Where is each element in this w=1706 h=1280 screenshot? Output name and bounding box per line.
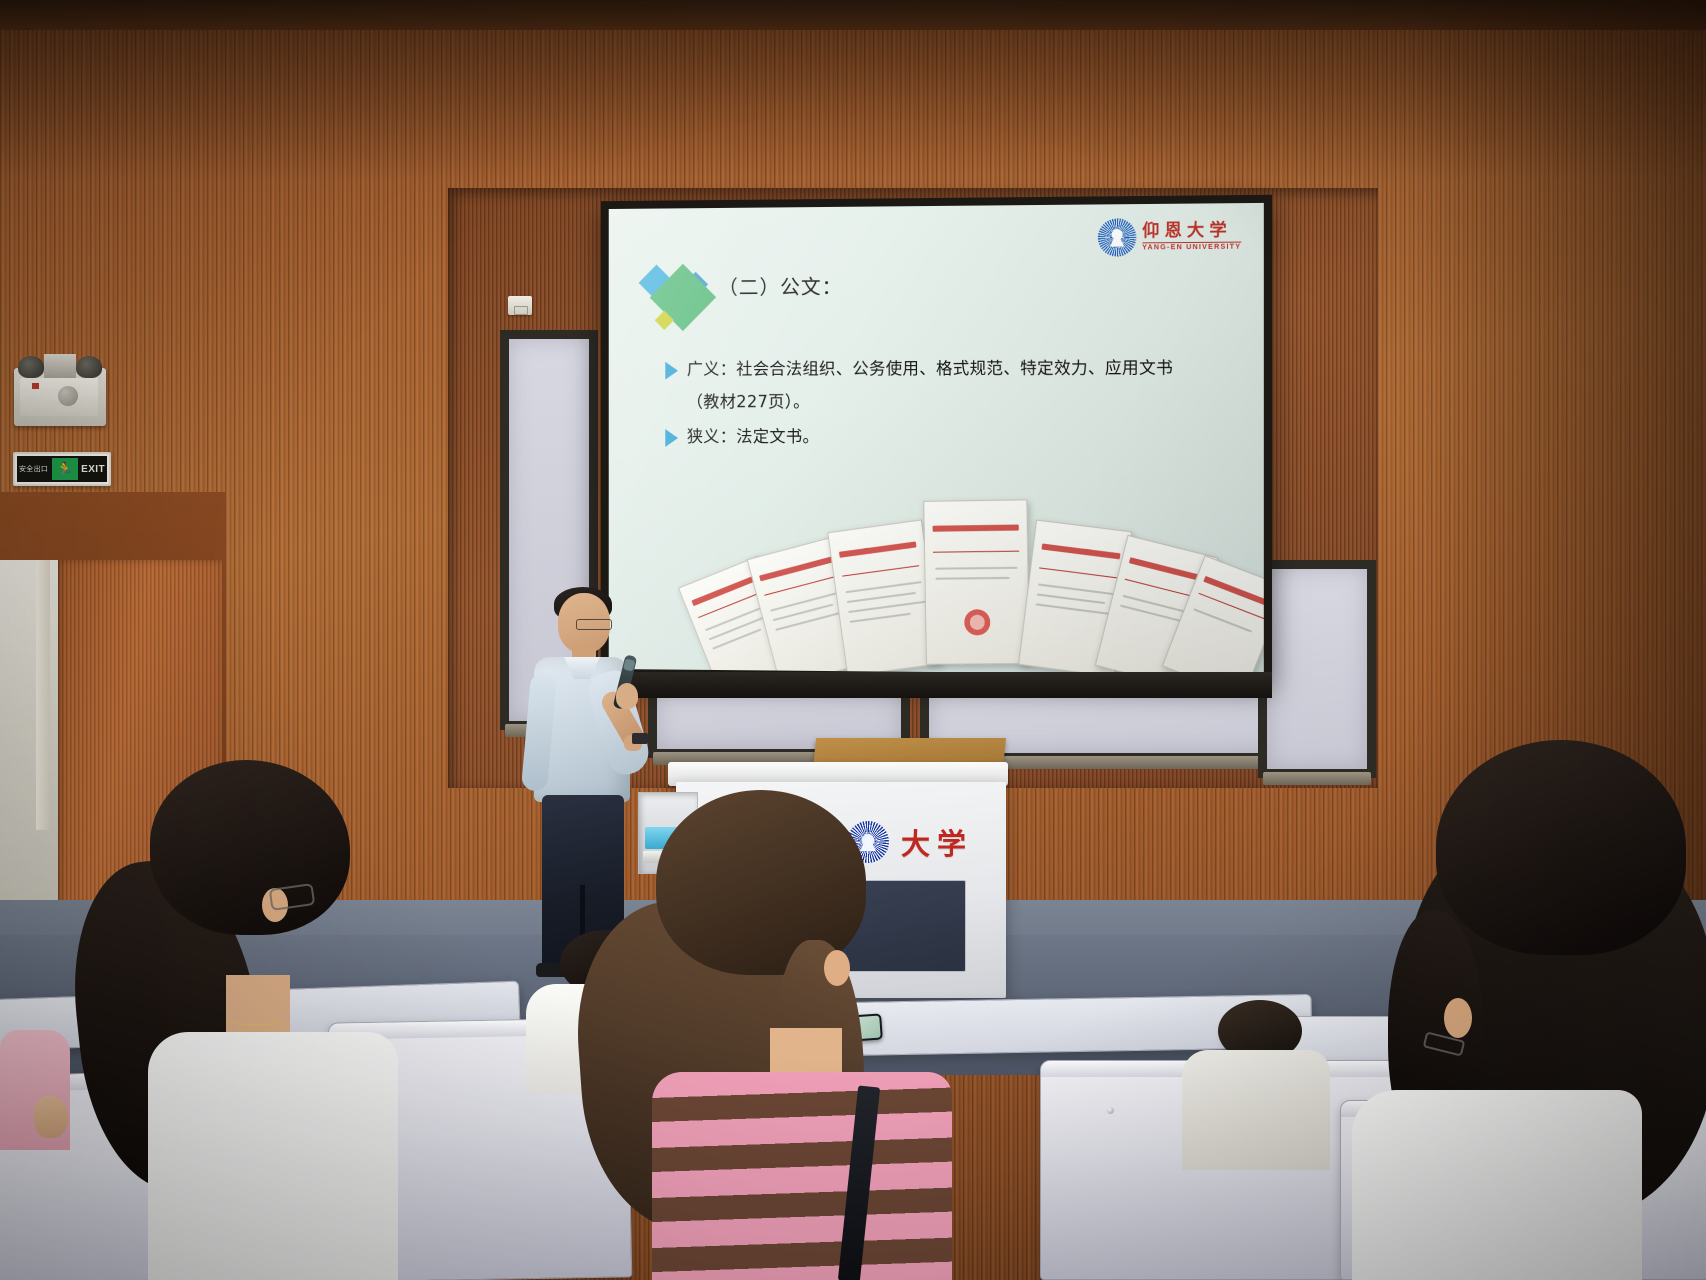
glasses-icon [576, 619, 612, 630]
document-rule [933, 551, 1019, 553]
university-name-cn: 仰恩大学 [1142, 223, 1232, 242]
emergency-light-led [32, 383, 39, 389]
seat-bolt [1107, 1107, 1114, 1114]
student-ear [824, 950, 850, 986]
document-line [847, 592, 916, 603]
university-logo-text: 仰恩大学 YANG-EN UNIVERSITY [1142, 222, 1241, 251]
red-official-seal-icon [964, 609, 991, 635]
document-line [849, 600, 929, 613]
student-head [150, 760, 350, 935]
document-header-band [759, 557, 833, 582]
exit-sign-label-cn: 安全出口 [19, 464, 48, 474]
government-documents-photo [714, 488, 1235, 667]
sunburst-logo-icon [1098, 218, 1137, 257]
document-line [1194, 608, 1252, 632]
student-head [656, 790, 866, 975]
bullet-continuation: （教材227页）。 [687, 388, 1225, 414]
student-striped-top [652, 1072, 952, 1280]
power-outlet-icon [508, 296, 532, 315]
exit-sign: 安全出口 🏃 EXIT [13, 452, 111, 486]
document-header-band [933, 525, 1019, 532]
student-ear [1444, 998, 1472, 1038]
university-logo: 仰恩大学 YANG-EN UNIVERSITY [1098, 217, 1242, 257]
exit-sign-label-en: EXIT [81, 464, 105, 475]
document-header-band [1041, 543, 1121, 559]
bullet-item: 广义：社会合法组织、公务使用、格式规范、特定效力、应用文书 [665, 355, 1225, 383]
bullet-text: 广义：社会合法组织、公务使用、格式规范、特定效力、应用文书 [687, 355, 1173, 383]
document-header-band [691, 574, 759, 606]
bullet-text: 狭义：法定文书。 [687, 424, 819, 451]
document-line [1038, 583, 1114, 595]
document-line [770, 592, 838, 612]
slide-title: （二）公文： [718, 271, 842, 301]
student-top [1352, 1090, 1642, 1280]
document-line [936, 577, 1010, 580]
triangle-bullet-icon [665, 429, 678, 447]
presenter-hand [616, 683, 638, 709]
document-line [850, 613, 911, 623]
emergency-lamp-right [76, 356, 102, 378]
document-line [1037, 593, 1105, 604]
student-neck [226, 975, 290, 1035]
document-line [1123, 595, 1191, 614]
document-line [846, 581, 922, 593]
student-head [1436, 740, 1686, 955]
student-front-right [1296, 740, 1706, 1280]
document-rule [1039, 567, 1118, 578]
student-front-left [30, 760, 400, 1280]
projected-slide: 仰恩大学 YANG-EN UNIVERSITY （二）公文： 广义：社会合法组织… [609, 203, 1264, 675]
student-top [148, 1032, 398, 1280]
document-rule [842, 565, 920, 577]
document-line [712, 629, 761, 650]
emergency-light-body [44, 354, 76, 378]
emergency-lamp-left [18, 356, 44, 378]
emergency-light-dome [58, 386, 78, 406]
triangle-bullet-icon [665, 362, 678, 380]
student-front-center [556, 790, 976, 1280]
document-header-band [838, 541, 917, 558]
diamond-decoration-icon [642, 260, 716, 336]
document-line [775, 611, 844, 631]
lecture-hall-photo: 安全出口 🏃 EXIT 仰恩大学 YANG-EN UNIVERSITY [0, 0, 1706, 1280]
document-rule [764, 576, 836, 596]
projector-screen-frame: 仰恩大学 YANG-EN UNIVERSITY （二）公文： 广义：社会合法组织… [601, 195, 1272, 684]
screen-bottom-bar [601, 672, 1272, 698]
emergency-light-fixture [14, 368, 106, 426]
document-header-band [1203, 576, 1264, 608]
bullet-item: 狭义：法定文书。 [665, 424, 1225, 451]
exit-sign-inner: 安全出口 🏃 EXIT [17, 456, 107, 482]
document-line [935, 567, 1017, 570]
slide-bullet-list: 广义：社会合法组织、公务使用、格式规范、特定效力、应用文书 （教材227页）。 … [665, 355, 1225, 457]
presentation-clicker-icon [632, 733, 648, 744]
document-sheet-main [923, 499, 1030, 665]
document-line [1036, 603, 1115, 615]
running-man-icon: 🏃 [52, 458, 78, 480]
necklace-icon [226, 1010, 284, 1026]
document-header-band [1129, 557, 1205, 582]
university-name-en: YANG-EN UNIVERSITY [1142, 242, 1241, 252]
